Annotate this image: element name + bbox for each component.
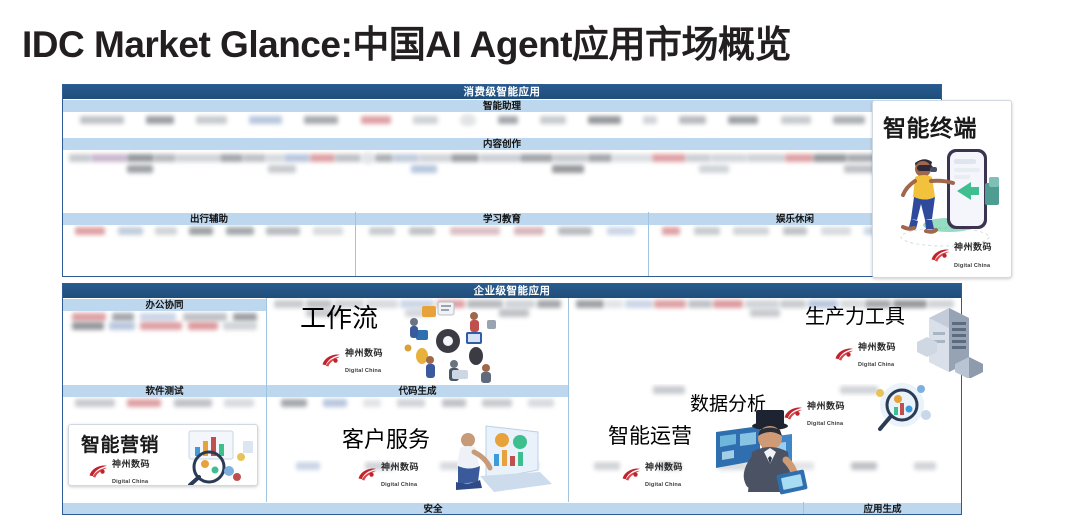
vendor-logo bbox=[625, 300, 653, 308]
vendor-logo bbox=[605, 300, 623, 308]
callout-label-smart-terminal: 智能终端 bbox=[883, 109, 977, 143]
vendor-logo bbox=[833, 116, 865, 124]
callout-productivity-tools: 生产力工具 神州数码 Digital China bbox=[805, 300, 985, 380]
vendor-logo bbox=[361, 116, 391, 124]
vendor-logo bbox=[154, 154, 176, 162]
vendor-logo bbox=[480, 154, 520, 162]
vendor-logo bbox=[335, 154, 361, 162]
vendor-logo bbox=[174, 399, 212, 407]
logo-grid-travel bbox=[63, 225, 355, 276]
vendor-logo bbox=[745, 300, 779, 308]
vendor-logo bbox=[821, 227, 851, 235]
vendor-logo bbox=[733, 227, 769, 235]
vendor-logo bbox=[112, 313, 134, 321]
consumer-section-header: 消费级智能应用 bbox=[63, 85, 941, 99]
vendor-logo bbox=[127, 154, 154, 162]
vendor-logo bbox=[679, 116, 706, 124]
vendor-logo bbox=[653, 386, 685, 394]
enterprise-row-header-security: 安全 bbox=[63, 502, 803, 515]
vendor-logo bbox=[183, 313, 227, 321]
vendor-logo bbox=[80, 116, 124, 124]
consumer-row-header-content: 内容创作 bbox=[63, 137, 941, 150]
digital-china-mark-icon bbox=[620, 466, 642, 482]
callout-label-smart-marketing: 智能营销 bbox=[81, 430, 159, 457]
brand-text: 神州数码 Digital China bbox=[112, 455, 150, 486]
consumer-col-education: 学习教育 bbox=[355, 212, 648, 277]
vendor-logo bbox=[451, 154, 479, 162]
vendor-logo bbox=[223, 322, 257, 330]
workflow-people-illustration bbox=[392, 298, 500, 384]
enterprise-section-header: 企业级智能应用 bbox=[63, 284, 961, 298]
vendor-logo bbox=[851, 462, 877, 470]
vendor-logo bbox=[140, 313, 176, 321]
brand-name-cn: 神州数码 bbox=[954, 242, 992, 252]
vendor-logo bbox=[728, 116, 758, 124]
brand-name-cn: 神州数码 bbox=[112, 459, 150, 469]
callout-customer-service: 客户服务 神州数码 Digital China bbox=[342, 422, 552, 494]
brand-name-en: Digital China bbox=[645, 482, 681, 488]
vendor-logo bbox=[109, 322, 135, 330]
vendor-logo bbox=[304, 116, 338, 124]
vendor-logo bbox=[72, 313, 106, 321]
vendor-logo bbox=[553, 154, 588, 162]
brand-name-en: Digital China bbox=[112, 479, 148, 485]
brand-text: 神州数码 Digital China bbox=[381, 458, 419, 491]
ar-woman-phone-illustration bbox=[885, 141, 1009, 253]
vendor-logo bbox=[785, 154, 813, 162]
vendor-logo bbox=[188, 322, 218, 330]
vendor-logo bbox=[118, 227, 143, 235]
brand-logo-customer-service: 神州数码 Digital China bbox=[356, 458, 419, 491]
brand-name-en: Digital China bbox=[858, 362, 894, 368]
vendor-logo bbox=[813, 154, 847, 162]
callout-smart-operations: 智能运营 神州数码 Digital China bbox=[608, 420, 838, 498]
consumer-row-header-assistant: 智能助理 bbox=[63, 99, 941, 112]
vendor-logo bbox=[498, 116, 518, 124]
vendor-logo bbox=[233, 313, 257, 321]
brand-name-en: Digital China bbox=[345, 368, 381, 374]
vendor-logo bbox=[588, 154, 612, 162]
vendor-logo bbox=[699, 165, 729, 173]
vendor-logo bbox=[499, 309, 529, 317]
vendor-logo bbox=[226, 227, 254, 235]
vendor-logo bbox=[310, 154, 335, 162]
vendor-logo bbox=[363, 399, 381, 407]
vendor-logo bbox=[268, 165, 296, 173]
vendor-logo bbox=[266, 154, 284, 162]
brand-text: 神州数码 Digital China bbox=[954, 238, 992, 271]
server-racks-illustration bbox=[915, 302, 987, 378]
vendor-logo bbox=[662, 227, 680, 235]
brand-text: 神州数码 Digital China bbox=[345, 344, 383, 377]
logo-grid-testing bbox=[63, 397, 266, 427]
logo-grid-content bbox=[63, 150, 941, 212]
brand-logo-smart-operations: 神州数码 Digital China bbox=[620, 458, 683, 491]
callout-smart-terminal: 智能终端 bbox=[872, 100, 1012, 278]
vendor-logo bbox=[189, 227, 213, 235]
vendor-logo bbox=[296, 462, 320, 470]
consumer-col-header-travel: 出行辅助 bbox=[63, 212, 355, 225]
enterprise-row-header-testing: 软件测试 bbox=[63, 384, 266, 397]
vendor-logo bbox=[224, 399, 254, 407]
logo-grid-assistant bbox=[63, 112, 941, 137]
vendor-logo bbox=[652, 154, 686, 162]
enterprise-bottom-appgen: 应用生成 bbox=[803, 502, 961, 515]
vendor-logo bbox=[552, 165, 584, 173]
vendor-logo bbox=[323, 399, 347, 407]
logo-grid-education bbox=[356, 225, 648, 276]
page-title: IDC Market Glance:中国AI Agent应用市场概览 bbox=[22, 14, 791, 68]
vendor-logo bbox=[780, 300, 806, 308]
vendor-logo bbox=[576, 300, 604, 308]
vendor-logo bbox=[220, 154, 243, 162]
vendor-logo bbox=[750, 309, 780, 317]
businessman-tablet-illustration bbox=[712, 410, 832, 498]
brand-name-cn: 神州数码 bbox=[858, 342, 896, 352]
vendor-logo bbox=[914, 462, 936, 470]
vendor-logo bbox=[643, 116, 657, 124]
person-laptop-dashboard-illustration bbox=[450, 418, 554, 496]
vendor-logo bbox=[460, 114, 476, 126]
vendor-logo bbox=[281, 399, 307, 407]
vendor-logo bbox=[127, 399, 161, 407]
brand-text: 神州数码 Digital China bbox=[645, 458, 683, 491]
vendor-logo bbox=[409, 227, 435, 235]
brand-text: 神州数码 Digital China bbox=[858, 338, 896, 371]
vendor-logo bbox=[393, 154, 419, 162]
vendor-logo bbox=[686, 154, 711, 162]
vendor-logo bbox=[72, 322, 104, 330]
vendor-logo bbox=[442, 399, 466, 407]
vendor-logo bbox=[713, 300, 743, 308]
vendor-logo bbox=[781, 116, 811, 124]
enterprise-row-header-appgen: 应用生成 bbox=[804, 502, 961, 515]
vendor-logo bbox=[369, 227, 395, 235]
consumer-bottom-columns: 出行辅助 学习教育 bbox=[63, 212, 941, 277]
logo-grid-office bbox=[63, 311, 266, 384]
vendor-logo bbox=[266, 227, 300, 235]
vendor-logo bbox=[514, 227, 544, 235]
brand-name-cn: 神州数码 bbox=[645, 462, 683, 472]
vendor-logo bbox=[711, 154, 747, 162]
vendor-logo bbox=[196, 116, 227, 124]
consumer-col-header-education: 学习教育 bbox=[356, 212, 648, 225]
vendor-logo bbox=[413, 116, 438, 124]
vendor-logo bbox=[75, 399, 115, 407]
vendor-logo bbox=[313, 227, 343, 235]
vendor-logo bbox=[127, 165, 153, 173]
consumer-panel: 消费级智能应用 智能助理 内容创作 bbox=[62, 84, 942, 277]
vendor-logo bbox=[688, 300, 712, 308]
vendor-logo bbox=[69, 154, 91, 162]
brand-name-cn: 神州数码 bbox=[345, 348, 383, 358]
brand-name-en: Digital China bbox=[381, 482, 417, 488]
consumer-col-travel: 出行辅助 bbox=[63, 212, 355, 277]
vendor-logo bbox=[397, 399, 425, 407]
brand-logo-productivity-tools: 神州数码 Digital China bbox=[833, 338, 896, 371]
vendor-logo bbox=[284, 154, 310, 162]
callout-smart-marketing: 智能营销 神州数码 Digital China bbox=[68, 424, 258, 486]
vendor-logo bbox=[528, 399, 554, 407]
vendor-logo bbox=[243, 154, 266, 162]
brand-logo-smart-terminal: 神州数码 Digital China bbox=[929, 238, 992, 271]
digital-china-mark-icon bbox=[356, 466, 378, 482]
callout-workflow: 工作流 神州数码 Digital China bbox=[300, 298, 500, 384]
vendor-logo bbox=[520, 154, 553, 162]
vendor-logo bbox=[654, 300, 686, 308]
digital-china-mark-icon bbox=[833, 346, 855, 362]
vendor-logo bbox=[361, 152, 375, 164]
vendor-logo bbox=[607, 227, 635, 235]
vendor-logo bbox=[537, 300, 561, 308]
magnifier-data-illustration bbox=[868, 379, 938, 441]
enterprise-bottom-rows: 安全 bbox=[63, 502, 961, 515]
vendor-logo bbox=[411, 165, 437, 173]
vendor-logo bbox=[505, 300, 535, 308]
brand-name-en: Digital China bbox=[954, 263, 990, 269]
vendor-logo bbox=[155, 227, 177, 235]
brand-name-cn: 神州数码 bbox=[381, 462, 419, 472]
vendor-logo bbox=[249, 116, 282, 124]
vendor-logo bbox=[75, 227, 105, 235]
vendor-logo bbox=[783, 227, 807, 235]
vendor-logo bbox=[482, 399, 512, 407]
magnifier-chart-illustration bbox=[173, 427, 258, 486]
enterprise-row-header-office: 办公协同 bbox=[63, 298, 266, 311]
digital-china-mark-icon bbox=[87, 463, 109, 479]
vendor-logo bbox=[375, 154, 393, 162]
vendor-logo bbox=[694, 227, 720, 235]
vendor-logo bbox=[540, 116, 566, 124]
digital-china-mark-icon bbox=[929, 247, 951, 263]
digital-china-mark-icon bbox=[320, 352, 342, 368]
enterprise-row-header-codegen: 代码生成 bbox=[267, 384, 568, 397]
vendor-logo bbox=[450, 227, 500, 235]
vendor-logo bbox=[588, 116, 621, 124]
brand-logo-smart-marketing: 神州数码 Digital China bbox=[87, 455, 150, 486]
enterprise-bottom-security: 安全 bbox=[63, 502, 803, 515]
brand-logo-workflow: 神州数码 Digital China bbox=[320, 344, 383, 377]
vendor-logo bbox=[612, 154, 652, 162]
vendor-logo bbox=[747, 154, 785, 162]
slide-root: IDC Market Glance:中国AI Agent应用市场概览 消费级智能… bbox=[0, 0, 1080, 525]
vendor-logo bbox=[146, 116, 174, 124]
vendor-logo bbox=[91, 154, 127, 162]
vendor-logo bbox=[140, 322, 182, 330]
vendor-logo bbox=[558, 227, 592, 235]
vendor-logo bbox=[419, 154, 451, 162]
vendor-logo bbox=[176, 154, 220, 162]
